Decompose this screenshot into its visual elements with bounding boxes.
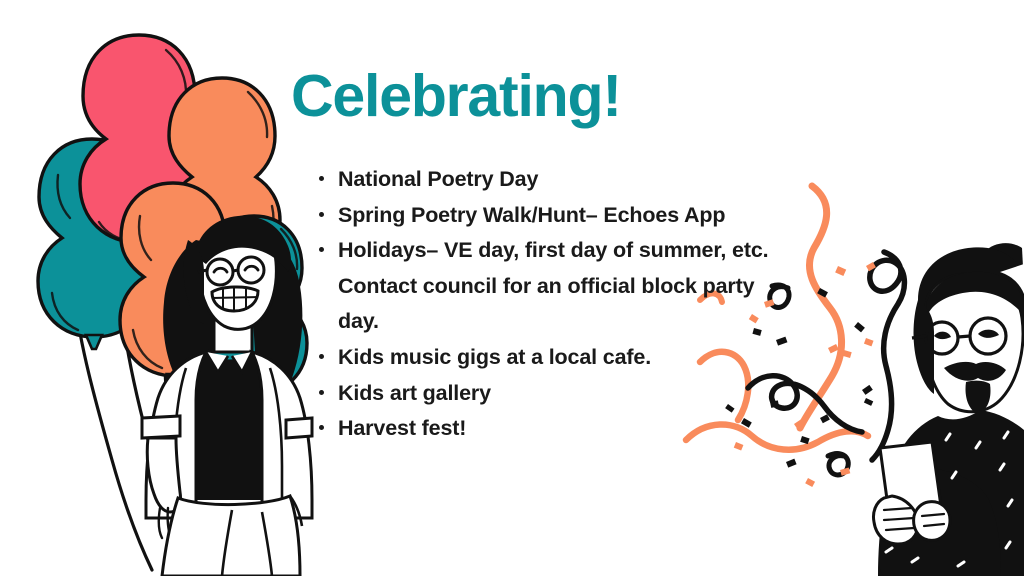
list-item-label: National Poetry Day bbox=[338, 167, 538, 191]
pink-balloon bbox=[80, 35, 200, 255]
teal-balloon-left bbox=[38, 139, 150, 349]
orange-balloon-lower bbox=[120, 183, 230, 388]
bullet-dot-icon bbox=[319, 390, 324, 395]
bullet-dot-icon bbox=[319, 176, 324, 181]
slide-canvas: Celebrating! National Poetry Day Spring … bbox=[0, 0, 1024, 576]
bullet-dot-icon bbox=[319, 247, 324, 252]
list-item-label: Holidays– VE day, first day of summer, e… bbox=[338, 238, 768, 333]
list-item: Holidays– VE day, first day of summer, e… bbox=[316, 233, 786, 340]
celebration-bullet-list: National Poetry Day Spring Poetry Walk/H… bbox=[316, 162, 786, 447]
bullet-dot-icon bbox=[319, 354, 324, 359]
list-item-label: Kids music gigs at a local cafe. bbox=[338, 345, 651, 369]
bullet-dot-icon bbox=[319, 425, 324, 430]
teal-balloon-right bbox=[205, 216, 307, 394]
list-item: Kids music gigs at a local cafe. bbox=[316, 340, 786, 376]
bullet-dot-icon bbox=[319, 212, 324, 217]
list-item-label: Harvest fest! bbox=[338, 416, 466, 440]
list-item: Spring Poetry Walk/Hunt– Echoes App bbox=[316, 198, 786, 234]
list-item: National Poetry Day bbox=[316, 162, 786, 198]
list-item: Harvest fest! bbox=[316, 411, 786, 447]
list-item: Kids art gallery bbox=[316, 376, 786, 412]
page-title: Celebrating! bbox=[291, 66, 621, 128]
list-item-label: Kids art gallery bbox=[338, 381, 491, 405]
list-item-label: Spring Poetry Walk/Hunt– Echoes App bbox=[338, 203, 725, 227]
held-card bbox=[880, 442, 944, 536]
orange-balloon-upper bbox=[168, 78, 280, 288]
